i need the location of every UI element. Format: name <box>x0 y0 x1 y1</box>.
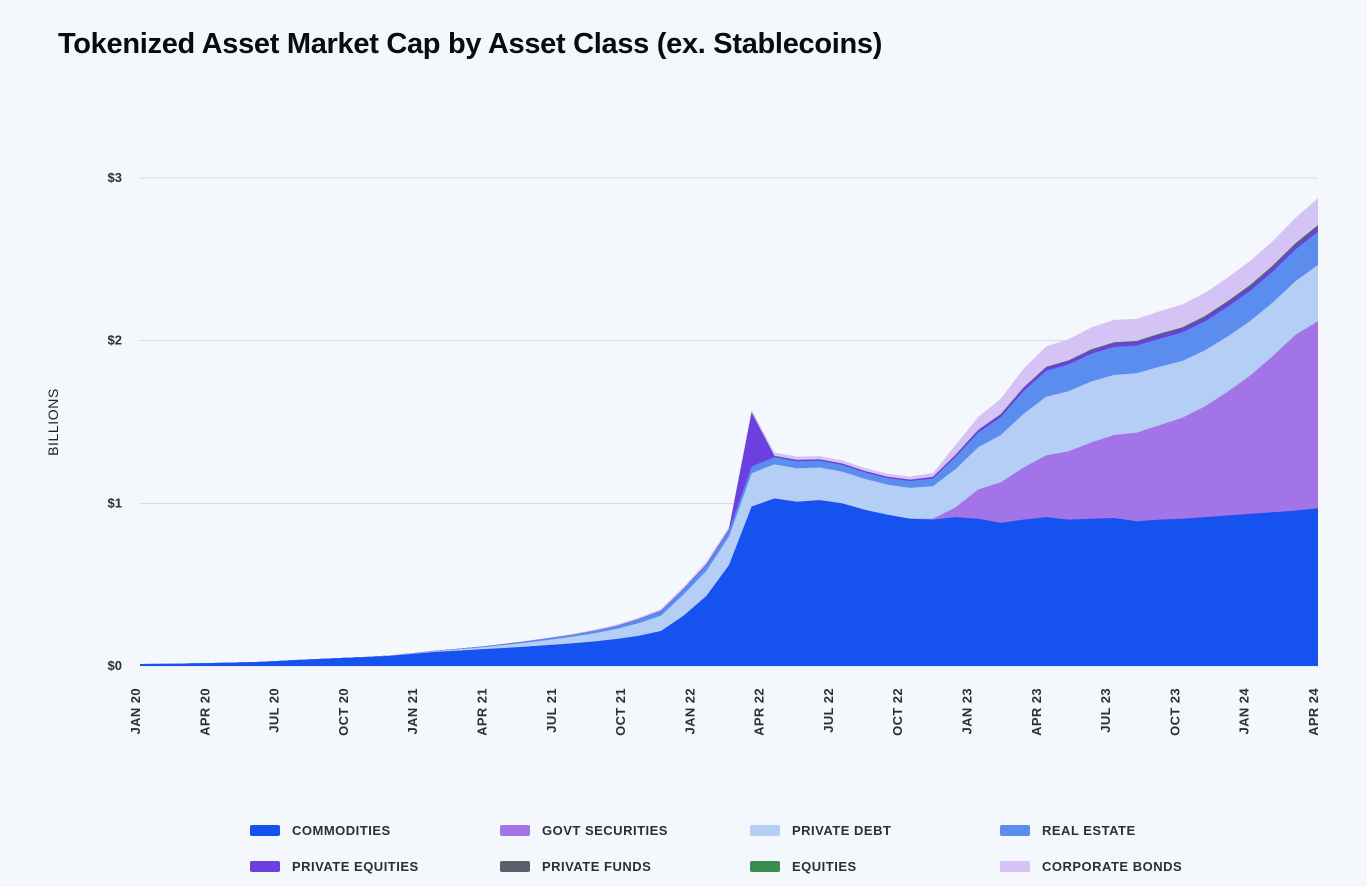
x-tick-label: JAN 22 <box>682 688 697 734</box>
legend-item-real-estate[interactable]: REAL ESTATE <box>1000 823 1250 838</box>
x-tick-label: JAN 21 <box>405 688 420 734</box>
area-series-commodities <box>140 498 1318 666</box>
legend-item-label: PRIVATE FUNDS <box>542 859 651 874</box>
x-tick-label: JAN 20 <box>128 688 143 734</box>
stacked-area-chart: $0$1$2$3 JAN 20APR 20JUL 20OCT 20JAN 21A… <box>0 0 1367 790</box>
legend-item-label: GOVT SECURITIES <box>542 823 668 838</box>
x-tick-label: JUL 20 <box>267 688 282 733</box>
legend-swatch-icon <box>250 861 280 872</box>
legend-swatch-icon <box>1000 861 1030 872</box>
y-tick-label: $2 <box>108 333 122 348</box>
legend-item-label: REAL ESTATE <box>1042 823 1136 838</box>
y-axis-title: BILLIONS <box>45 388 61 456</box>
legend-item-label: PRIVATE DEBT <box>792 823 891 838</box>
x-tick-label: OCT 21 <box>613 688 628 736</box>
legend-item-corporate-bonds[interactable]: CORPORATE BONDS <box>1000 859 1250 874</box>
y-axis-tick-labels: $0$1$2$3 <box>108 170 122 673</box>
x-tick-label: APR 22 <box>752 688 767 736</box>
legend-item-commodities[interactable]: COMMODITIES <box>250 823 500 838</box>
chart-card: Tokenized Asset Market Cap by Asset Clas… <box>0 0 1367 887</box>
legend-item-label: CORPORATE BONDS <box>1042 859 1182 874</box>
legend-swatch-icon <box>500 861 530 872</box>
legend-swatch-icon <box>500 825 530 836</box>
x-axis-tick-labels: JAN 20APR 20JUL 20OCT 20JAN 21APR 21JUL … <box>128 688 1321 736</box>
legend-item-private-equities[interactable]: PRIVATE EQUITIES <box>250 859 500 874</box>
x-tick-label: OCT 23 <box>1167 688 1182 736</box>
chart-plot-area: $0$1$2$3 JAN 20APR 20JUL 20OCT 20JAN 21A… <box>0 0 1367 790</box>
x-tick-label: JUL 21 <box>544 688 559 733</box>
x-tick-label: APR 23 <box>1029 688 1044 736</box>
legend-swatch-icon <box>750 825 780 836</box>
legend-item-private-debt[interactable]: PRIVATE DEBT <box>750 823 1000 838</box>
x-tick-label: JAN 23 <box>960 688 975 734</box>
legend-item-govt-securities[interactable]: GOVT SECURITIES <box>500 823 750 838</box>
x-tick-label: OCT 20 <box>336 688 351 736</box>
x-tick-label: JAN 24 <box>1237 688 1252 735</box>
legend-item-label: EQUITIES <box>792 859 857 874</box>
chart-legend: COMMODITIESGOVT SECURITIESPRIVATE DEBTRE… <box>250 812 1250 884</box>
legend-swatch-icon <box>1000 825 1030 836</box>
legend-item-label: PRIVATE EQUITIES <box>292 859 419 874</box>
y-tick-label: $1 <box>108 495 122 510</box>
legend-item-label: COMMODITIES <box>292 823 391 838</box>
x-tick-label: APR 20 <box>197 688 212 736</box>
area-series-group <box>140 198 1318 666</box>
x-tick-label: APR 24 <box>1306 688 1321 736</box>
legend-swatch-icon <box>250 825 280 836</box>
legend-item-private-funds[interactable]: PRIVATE FUNDS <box>500 859 750 874</box>
legend-item-equities[interactable]: EQUITIES <box>750 859 1000 874</box>
y-tick-label: $3 <box>108 170 122 185</box>
y-tick-label: $0 <box>108 658 122 673</box>
x-tick-label: JUL 22 <box>821 688 836 733</box>
legend-swatch-icon <box>750 861 780 872</box>
x-tick-label: JUL 23 <box>1098 688 1113 733</box>
x-tick-label: APR 21 <box>475 688 490 736</box>
x-tick-label: OCT 22 <box>890 688 905 736</box>
